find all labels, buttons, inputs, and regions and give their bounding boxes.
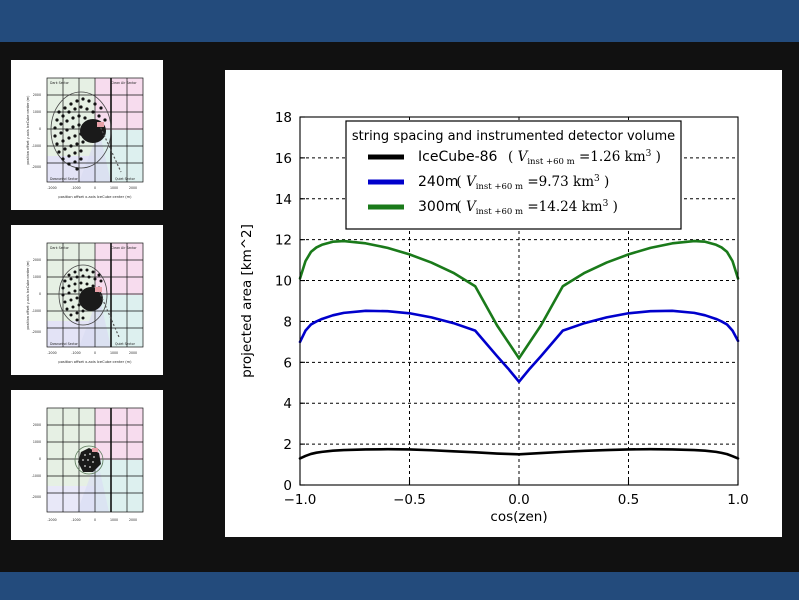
y-tick-label: 6 — [283, 355, 292, 371]
svg-text:-1000: -1000 — [71, 351, 80, 355]
station-marker — [92, 448, 98, 452]
svg-text:Downwind Sector: Downwind Sector — [50, 342, 79, 346]
svg-text:2000: 2000 — [129, 351, 137, 355]
svg-text:0: 0 — [94, 351, 96, 355]
station-marker — [97, 122, 104, 127]
svg-text:Clean Air Sector: Clean Air Sector — [111, 246, 137, 250]
y-tick-label: 8 — [283, 314, 292, 330]
station-marker — [95, 287, 102, 292]
detector-layout-figure-1: Dark Sector Clean Air Sector Downwind Se… — [19, 233, 155, 367]
slide-root: Dark Sector Clean Air Sector Downwind Se… — [0, 0, 799, 600]
svg-text:-2000: -2000 — [32, 165, 41, 169]
y-tick-label: 4 — [283, 396, 292, 412]
svg-text:Quiet Sector: Quiet Sector — [115, 342, 136, 346]
y-tick-label: 16 — [275, 151, 292, 167]
svg-text:-2000: -2000 — [47, 186, 56, 190]
svg-text:1000: 1000 — [110, 186, 118, 190]
x-tick-label: −1.0 — [284, 492, 317, 508]
legend-label-300m: 300m — [418, 199, 458, 215]
svg-text:-1000: -1000 — [71, 186, 80, 190]
legend-label-IceCube-86: IceCube-86 — [418, 149, 498, 165]
svg-text:2000: 2000 — [129, 186, 137, 190]
svg-text:0: 0 — [39, 292, 41, 296]
svg-text:1000: 1000 — [33, 110, 41, 114]
svg-text:-2000: -2000 — [47, 351, 56, 355]
svg-text:1000: 1000 — [110, 351, 118, 355]
y-tick-label: 2 — [283, 437, 292, 453]
y-tick-label: 10 — [275, 274, 292, 290]
detector-layout-figure-2: -2000 -1000 0 1000 2000 -2000 -1000 0 10… — [19, 398, 155, 532]
chart-legend: string spacing and instrumented detector… — [346, 121, 681, 229]
main-figure-panel: 024681012141618−1.0−0.50.00.51.0 string … — [225, 70, 782, 537]
svg-text:-1000: -1000 — [32, 309, 41, 313]
svg-text:0: 0 — [94, 186, 96, 190]
thumbnail-xlabel: position offset x-axis IceCube center (m… — [58, 195, 132, 199]
svg-text:1000: 1000 — [33, 275, 41, 279]
y-tick-label: 18 — [275, 110, 292, 126]
thumbnail-ylabel: position offset y-axis IceCube center (m… — [26, 95, 30, 165]
projected-area-chart: 024681012141618−1.0−0.50.00.51.0 string … — [225, 70, 782, 537]
svg-text:Downwind Sector: Downwind Sector — [50, 177, 79, 181]
x-tick-label: 0.0 — [508, 492, 529, 508]
svg-text:-2000: -2000 — [32, 495, 41, 499]
svg-text:-1000: -1000 — [71, 518, 80, 522]
svg-text:-1000: -1000 — [32, 144, 41, 148]
x-tick-label: −0.5 — [393, 492, 426, 508]
legend-label-240m: 240m — [418, 174, 458, 190]
x-axis-title: cos(zen) — [490, 509, 547, 525]
svg-text:Clean Air Sector: Clean Air Sector — [111, 81, 137, 85]
svg-text:2000: 2000 — [129, 518, 137, 522]
series-line-IceCube-86 — [300, 449, 738, 458]
thumbnail-detector-layout-2[interactable]: -2000 -1000 0 1000 2000 -2000 -1000 0 10… — [11, 390, 163, 540]
svg-text:0: 0 — [39, 457, 41, 461]
y-tick-label: 12 — [275, 233, 292, 249]
y-tick-label: 14 — [275, 192, 292, 208]
thumbnail-detector-layout-0[interactable]: Dark Sector Clean Air Sector Downwind Se… — [11, 60, 163, 210]
svg-text:1000: 1000 — [110, 518, 118, 522]
svg-text:2000: 2000 — [33, 423, 41, 427]
svg-text:-1000: -1000 — [32, 474, 41, 478]
svg-text:0: 0 — [39, 127, 41, 131]
y-axis-title: projected area [km^2] — [239, 224, 255, 378]
thumbnail-rail: Dark Sector Clean Air Sector Downwind Se… — [11, 60, 163, 540]
svg-text:-2000: -2000 — [47, 518, 56, 522]
svg-text:Quiet Sector: Quiet Sector — [115, 177, 136, 181]
svg-text:2000: 2000 — [33, 258, 41, 262]
svg-text:0: 0 — [94, 518, 96, 522]
svg-text:-2000: -2000 — [32, 330, 41, 334]
x-tick-label: 0.5 — [618, 492, 639, 508]
legend-title: string spacing and instrumented detector… — [352, 129, 675, 144]
detector-layout-figure-0: Dark Sector Clean Air Sector Downwind Se… — [19, 68, 155, 202]
thumbnail-xlabel: position offset x-axis IceCube center (m… — [58, 360, 132, 364]
svg-text:Dark Sector: Dark Sector — [50, 246, 70, 250]
svg-text:1000: 1000 — [33, 440, 41, 444]
svg-text:2000: 2000 — [33, 93, 41, 97]
thumbnail-detector-layout-1[interactable]: Dark Sector Clean Air Sector Downwind Se… — [11, 225, 163, 375]
x-tick-label: 1.0 — [727, 492, 748, 508]
svg-text:Dark Sector: Dark Sector — [50, 81, 70, 85]
thumbnail-ylabel: position offset y-axis IceCube center (m… — [26, 260, 30, 330]
